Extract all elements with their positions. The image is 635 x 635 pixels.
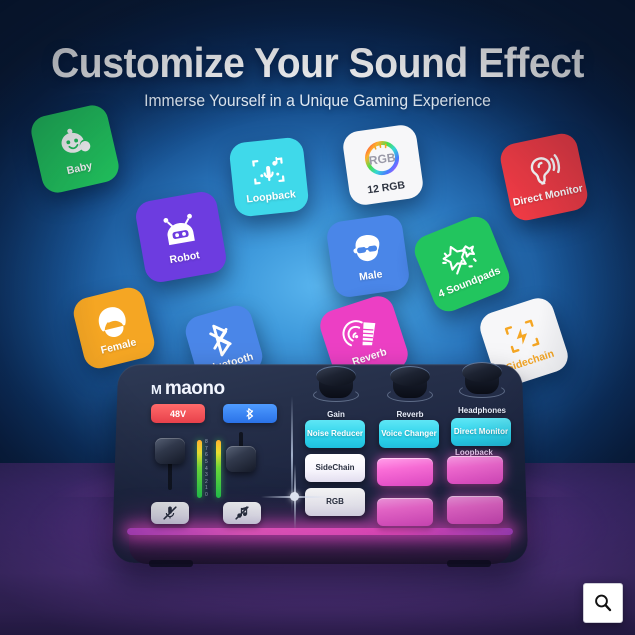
knob-dial[interactable]: [313, 366, 359, 406]
feature-tile-soundpads[interactable]: 4 Soundpads: [410, 212, 514, 316]
phantom-power-button[interactable]: 48V: [151, 404, 205, 423]
robot-head-icon: [136, 204, 224, 258]
fader-knob[interactable]: [226, 446, 256, 472]
soundpad-4[interactable]: [447, 496, 503, 524]
fader-stem: [168, 462, 172, 490]
scale-tick: 1: [205, 486, 208, 491]
knob-reverb[interactable]: Reverb: [381, 366, 439, 406]
knob-top: [316, 366, 356, 386]
knob-gain[interactable]: Gain: [307, 366, 365, 406]
mic-level-fader[interactable]: [155, 438, 185, 496]
scale-tick: 4: [205, 467, 208, 472]
scale-tick: 8: [205, 440, 208, 445]
device-front-face: [129, 530, 511, 564]
feature-tile-robot[interactable]: Robot: [134, 190, 229, 285]
search-icon: [593, 593, 613, 613]
knob-label: Reverb: [381, 410, 439, 419]
button-sidechain[interactable]: SideChain: [305, 454, 365, 482]
search-button[interactable]: [583, 583, 623, 623]
knob-headphones[interactable]: Headphones: [453, 362, 511, 402]
level-meter-scale: 8 7 6 5 4 3 2 1 0: [205, 440, 208, 498]
scale-tick: 5: [205, 460, 208, 465]
feature-tile-male[interactable]: Male: [325, 213, 411, 299]
knob-label: Gain: [307, 410, 365, 419]
feature-tile-female[interactable]: Female: [70, 284, 157, 371]
soundpad-2[interactable]: [447, 456, 503, 484]
knob-ring: [387, 388, 433, 402]
feature-tile-12rgb[interactable]: RGB 12 RGB: [341, 123, 425, 207]
rgb-ring-icon: RGB: [342, 132, 421, 186]
page-title: Customize Your Sound Effect: [22, 40, 613, 86]
knob-ring: [459, 384, 505, 398]
page-subtitle: Immerse Yourself in a Unique Gaming Expe…: [16, 92, 619, 111]
audio-mixer-device: M maono 48V 8 7 6 5 4 3 2 1: [115, 362, 525, 562]
male-face-icon: [327, 225, 408, 273]
soundpad-1[interactable]: [377, 458, 433, 486]
product-banner: Customize Your Sound Effect Immerse Your…: [0, 0, 635, 635]
brand-name: maono: [165, 378, 225, 400]
scale-tick: 6: [205, 453, 208, 458]
knob-ring: [313, 388, 359, 402]
music-mute-icon: [233, 505, 251, 521]
knob-top: [462, 362, 502, 382]
mic-mute-button[interactable]: [151, 502, 189, 524]
scale-tick: 0: [205, 493, 208, 498]
feature-tile-loopback[interactable]: Loopback: [228, 136, 309, 217]
level-meter-left: [197, 440, 202, 498]
feature-tile-baby[interactable]: Baby: [28, 102, 122, 196]
baby-face-icon: [31, 115, 116, 170]
button-voice-changer[interactable]: Voice Changer: [379, 420, 439, 448]
soundpad-3[interactable]: [377, 498, 433, 526]
scale-tick: 7: [205, 447, 208, 452]
fader-knob[interactable]: [155, 438, 185, 464]
bluetooth-button[interactable]: [223, 404, 277, 423]
button-direct-monitor[interactable]: Direct Monitor: [451, 418, 511, 446]
mic-mute-icon: [161, 505, 179, 521]
knob-label: Headphones: [453, 406, 511, 415]
scale-tick: 2: [205, 480, 208, 485]
music-mute-button[interactable]: [223, 502, 261, 524]
loopback-mic-icon: [230, 148, 308, 194]
feature-tile-direct-monitor[interactable]: Direct Monitor: [498, 131, 591, 224]
knob-dial[interactable]: [387, 366, 433, 406]
button-noise-reducer[interactable]: Noise Reducer: [305, 420, 365, 448]
bluetooth-icon: [245, 406, 256, 421]
svg-text:RGB: RGB: [368, 150, 397, 168]
pad-divider-center-dot: [290, 492, 299, 501]
rgb-light-strip: [127, 528, 513, 535]
button-rgb[interactable]: RGB: [305, 488, 365, 516]
music-level-fader[interactable]: [226, 438, 256, 496]
level-meter-right: [216, 440, 221, 498]
brand-mark-icon: M: [151, 382, 161, 397]
device-foot-left: [149, 560, 193, 567]
knob-top: [390, 366, 430, 386]
device-foot-right: [447, 560, 491, 567]
brand-logo: M maono: [151, 378, 225, 400]
female-face-icon: [73, 296, 152, 348]
knob-dial[interactable]: [459, 362, 505, 402]
feature-tile-label: Male: [358, 268, 383, 283]
scale-tick: 3: [205, 473, 208, 478]
